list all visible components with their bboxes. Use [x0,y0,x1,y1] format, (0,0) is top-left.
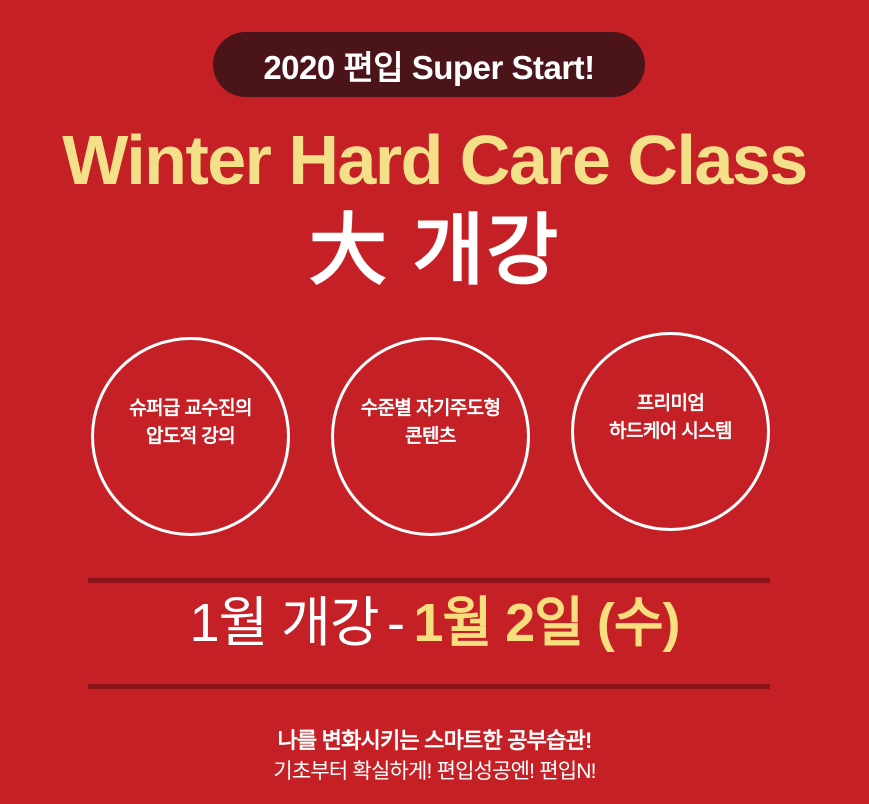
divider-top [88,578,770,583]
campaign-badge: 2020 편입 Super Start! [213,32,645,97]
feature-circle-1: 슈퍼급 교수진의 압도적 강의 [91,337,290,536]
feature-circle-2-line-1: 수준별 자기주도형 [334,395,527,423]
feature-circle-3: 프리미엄 하드케어 시스템 [571,332,770,531]
campaign-badge-label: 2020 편입 Super Start! [263,41,594,89]
feature-circle-3-line-1: 프리미엄 [574,390,767,418]
divider-bottom [88,684,770,689]
footer-sub-text: 기초부터 확실하게! 편입성공엔! 편입N! [0,756,869,788]
feature-circle-2-line-2: 콘텐츠 [334,423,527,451]
feature-circle-1-line-2: 압도적 강의 [94,423,287,451]
feature-circle-1-line-1: 슈퍼급 교수진의 [94,395,287,423]
headline-korean: 大 개강 [0,204,869,298]
promo-banner: 2020 편입 Super Start! Winter Hard Care Cl… [0,0,869,804]
schedule-start-label: 1월 개강 [189,593,378,653]
feature-circle-3-label: 프리미엄 하드케어 시스템 [574,390,767,445]
schedule-separator: - [383,593,409,653]
feature-circle-2-label: 수준별 자기주도형 콘텐츠 [334,395,527,450]
headline-english: Winter Hard Care Class [0,125,869,195]
footer-main-text: 나를 변화시키는 스마트한 공부습관! [0,726,869,756]
feature-circle-3-line-2: 하드케어 시스템 [574,418,767,446]
feature-circle-group: 슈퍼급 교수진의 압도적 강의 수준별 자기주도형 콘텐츠 프리미엄 하드케어 … [0,330,869,550]
feature-circle-1-label: 슈퍼급 교수진의 압도적 강의 [94,395,287,450]
footer-block: 나를 변화시키는 스마트한 공부습관! 기초부터 확실하게! 편입성공엔! 편입… [0,726,869,787]
feature-circle-2: 수준별 자기주도형 콘텐츠 [331,337,530,536]
schedule-date-value: 1월 2일 (수) [413,593,679,653]
schedule-row: 1월 개강 - 1월 2일 (수) [0,596,869,650]
